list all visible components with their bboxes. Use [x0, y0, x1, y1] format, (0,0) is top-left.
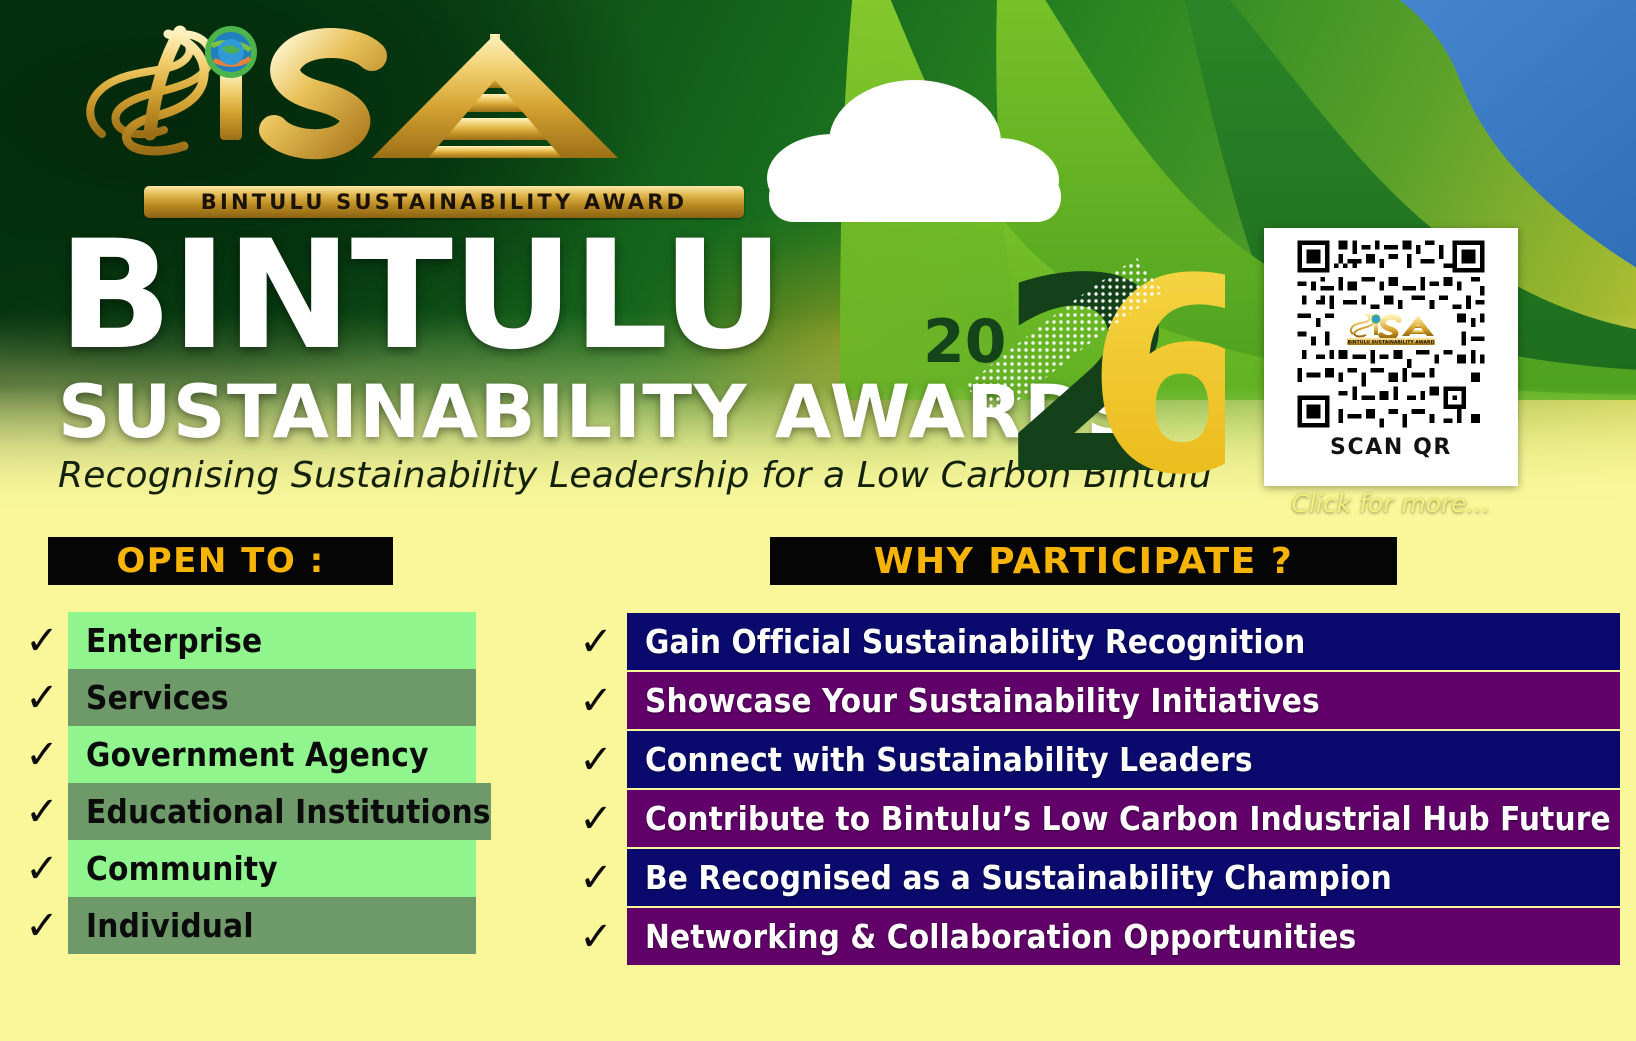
why-participate-heading: WHY PARTICIPATE ?: [874, 541, 1293, 582]
list-item-label: Contribute to Bintulu’s Low Carbon Indus…: [645, 799, 1611, 838]
check-icon: ✓: [565, 740, 627, 780]
list-item[interactable]: ✓ Services: [16, 669, 476, 726]
check-icon: ✓: [16, 792, 68, 832]
why-participate-banner: WHY PARTICIPATE ?: [770, 537, 1397, 585]
list-item[interactable]: ✓ Connect with Sustainability Leaders: [565, 730, 1620, 789]
list-item-label: Individual: [86, 906, 254, 945]
list-item-chip: Educational Institutions: [68, 783, 491, 840]
list-item[interactable]: ✓ Enterprise: [16, 612, 476, 669]
qr-code-icon[interactable]: BINTULU SUSTAINABILITY AWARD: [1284, 236, 1498, 432]
check-icon: ✓: [565, 681, 627, 721]
year-badge-2026: 20 2 6: [905, 236, 1225, 496]
list-item[interactable]: ✓ Be Recognised as a Sustainability Cham…: [565, 848, 1620, 907]
bisa-wordmark-icon: [72, 22, 692, 172]
list-item[interactable]: ✓ Community: [16, 840, 476, 897]
poster-root: BINTULU SUSTAINABILITY AWARD BINTULU SUS…: [0, 0, 1636, 1041]
list-item-chip: Connect with Sustainability Leaders: [627, 731, 1620, 788]
check-icon: ✓: [16, 849, 68, 889]
list-item-chip: Services: [68, 669, 476, 726]
check-icon: ✓: [16, 906, 68, 946]
list-item-chip: Community: [68, 840, 476, 897]
open-to-list: ✓ Enterprise ✓ Services ✓ Government Age…: [16, 612, 476, 954]
list-item-chip: Gain Official Sustainability Recognition: [627, 613, 1620, 670]
check-icon: ✓: [565, 622, 627, 662]
list-item-chip: Showcase Your Sustainability Initiatives: [627, 672, 1620, 729]
list-item-label: Showcase Your Sustainability Initiatives: [645, 681, 1320, 720]
check-icon: ✓: [565, 799, 627, 839]
list-item[interactable]: ✓ Gain Official Sustainability Recogniti…: [565, 612, 1620, 671]
list-item-chip: Individual: [68, 897, 476, 954]
cloud-icon: [745, 60, 1085, 230]
list-item-chip: Contribute to Bintulu’s Low Carbon Indus…: [627, 790, 1620, 847]
qr-caption: SCAN QR: [1330, 435, 1452, 460]
list-item-label: Community: [86, 849, 278, 888]
bisa-logo: BINTULU SUSTAINABILITY AWARD: [72, 22, 692, 217]
list-item[interactable]: ✓ Networking & Collaboration Opportuniti…: [565, 907, 1620, 966]
year-digit-6: 6: [1085, 236, 1225, 496]
list-item[interactable]: ✓ Educational Institutions: [16, 783, 476, 840]
list-item[interactable]: ✓ Showcase Your Sustainability Initiativ…: [565, 671, 1620, 730]
list-item-chip: Enterprise: [68, 612, 476, 669]
list-item-label: Government Agency: [86, 735, 429, 774]
check-icon: ✓: [16, 621, 68, 661]
why-participate-list: ✓ Gain Official Sustainability Recogniti…: [565, 612, 1620, 966]
list-item-label: Be Recognised as a Sustainability Champi…: [645, 858, 1392, 897]
check-icon: ✓: [16, 735, 68, 775]
check-icon: ✓: [16, 678, 68, 718]
list-item-label: Gain Official Sustainability Recognition: [645, 622, 1305, 661]
open-to-banner: OPEN TO :: [48, 537, 393, 585]
check-icon: ✓: [565, 917, 627, 957]
list-item-label: Networking & Collaboration Opportunities: [645, 917, 1356, 956]
list-item-label: Enterprise: [86, 621, 262, 660]
check-icon: ✓: [565, 858, 627, 898]
svg-text:BINTULU SUSTAINABILITY AWARD: BINTULU SUSTAINABILITY AWARD: [1348, 340, 1435, 346]
list-item-label: Connect with Sustainability Leaders: [645, 740, 1253, 779]
qr-click-for-more-link[interactable]: Click for more...: [1264, 489, 1518, 518]
list-item-label: Services: [86, 678, 229, 717]
list-item[interactable]: ✓ Contribute to Bintulu’s Low Carbon Ind…: [565, 789, 1620, 848]
list-item[interactable]: ✓ Individual: [16, 897, 476, 954]
open-to-heading: OPEN TO :: [116, 541, 324, 581]
qr-center-bisa-logo: BINTULU SUSTAINABILITY AWARD: [1346, 313, 1436, 347]
list-item-label: Educational Institutions: [86, 792, 491, 831]
list-item-chip: Be Recognised as a Sustainability Champi…: [627, 849, 1620, 906]
qr-code-card[interactable]: BINTULU SUSTAINABILITY AWARD SCAN QR: [1264, 228, 1518, 486]
list-item-chip: Networking & Collaboration Opportunities: [627, 908, 1620, 965]
list-item[interactable]: ✓ Government Agency: [16, 726, 476, 783]
list-item-chip: Government Agency: [68, 726, 476, 783]
